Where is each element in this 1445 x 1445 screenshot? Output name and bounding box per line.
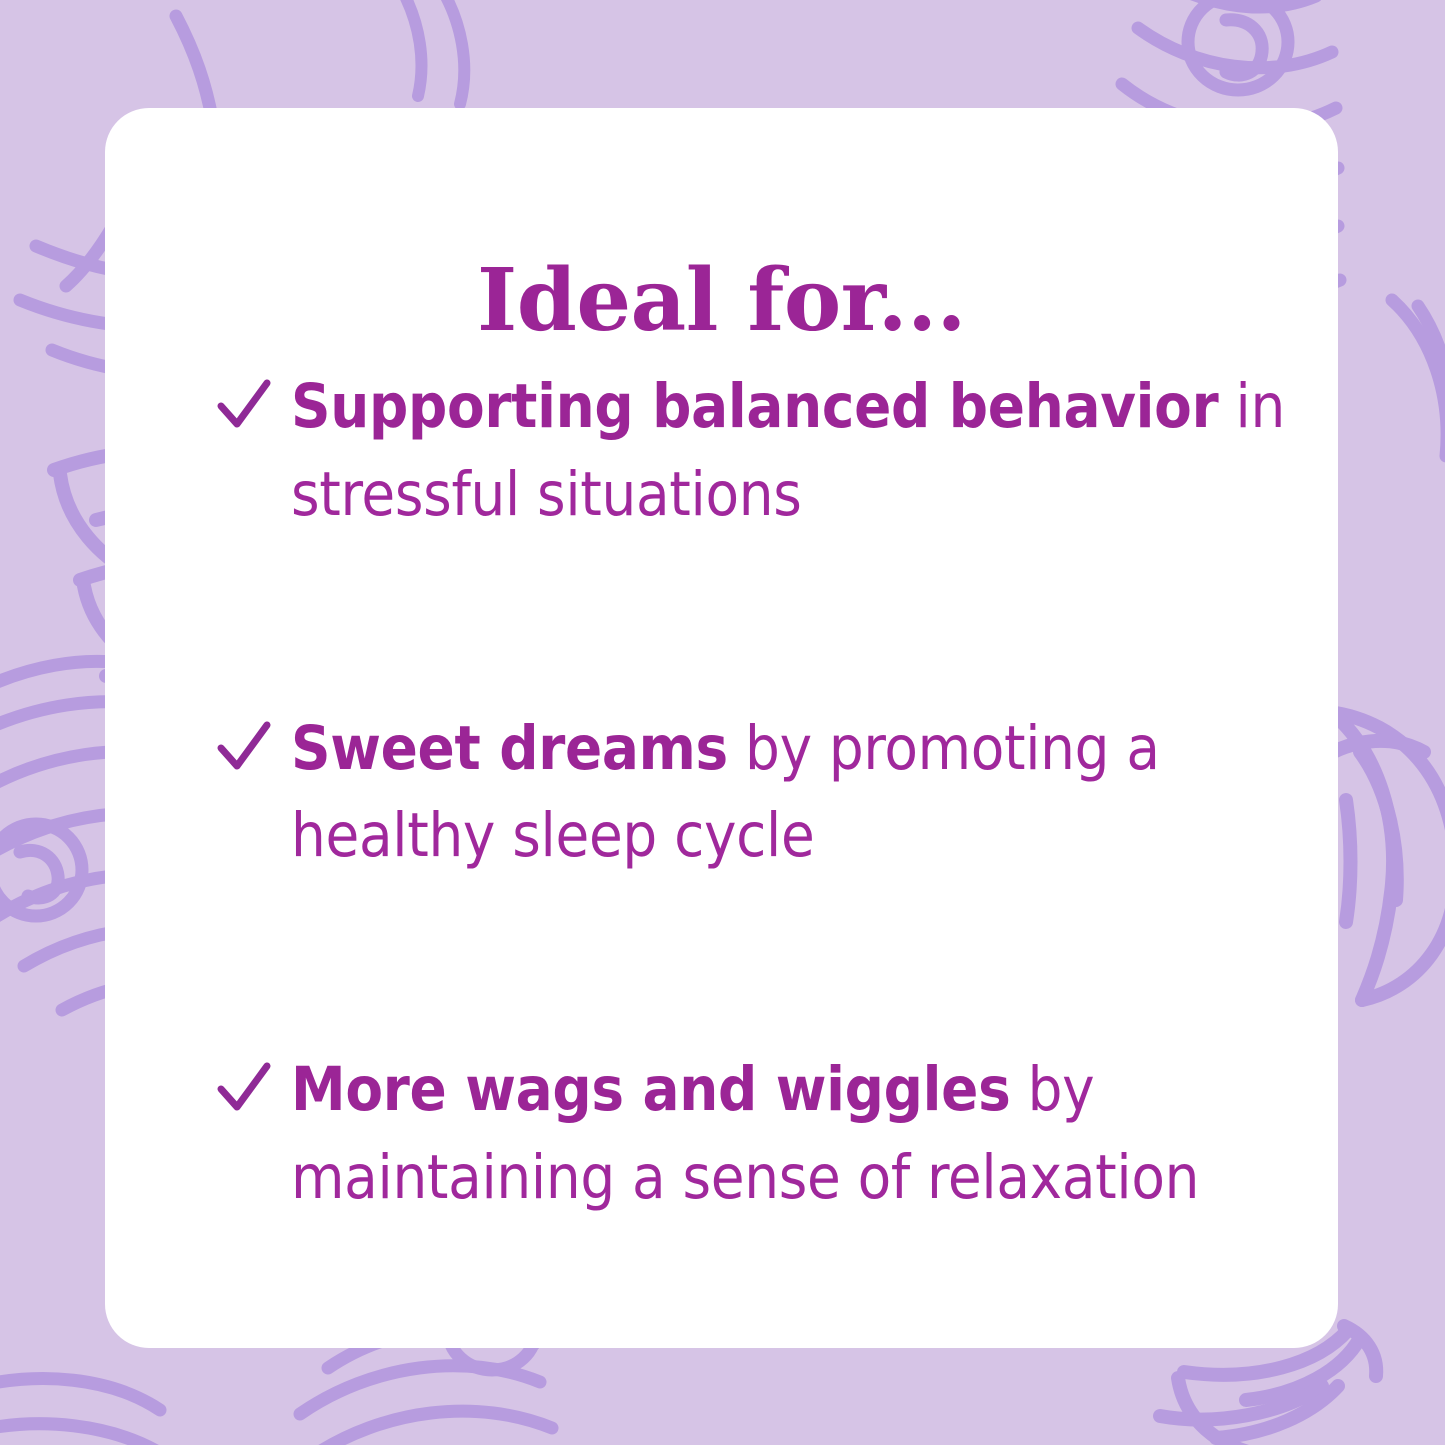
list-item: Sweet dreams by promoting a healthy slee…: [217, 705, 1324, 881]
benefit-text: Supporting balanced behavior in stressfu…: [291, 363, 1291, 539]
list-item: More wags and wiggles by maintaining a s…: [217, 1046, 1324, 1222]
benefit-lead: More wags and wiggles: [291, 1054, 1010, 1125]
check-icon: [217, 721, 291, 775]
list-item: Supporting balanced behavior in stressfu…: [217, 363, 1324, 539]
benefit-lead: Supporting balanced behavior: [291, 371, 1218, 442]
benefit-lead: Sweet dreams: [291, 713, 728, 784]
poster-canvas: Ideal for... Supporting balanced behavio…: [0, 0, 1445, 1445]
page-title: Ideal for...: [105, 258, 1338, 344]
benefit-text: Sweet dreams by promoting a healthy slee…: [291, 705, 1291, 881]
check-icon: [217, 1062, 291, 1116]
benefits-card: Ideal for... Supporting balanced behavio…: [105, 108, 1338, 1348]
check-icon: [217, 379, 291, 433]
benefit-text: More wags and wiggles by maintaining a s…: [291, 1046, 1291, 1222]
benefits-list: Supporting balanced behavior in stressfu…: [105, 363, 1338, 1222]
